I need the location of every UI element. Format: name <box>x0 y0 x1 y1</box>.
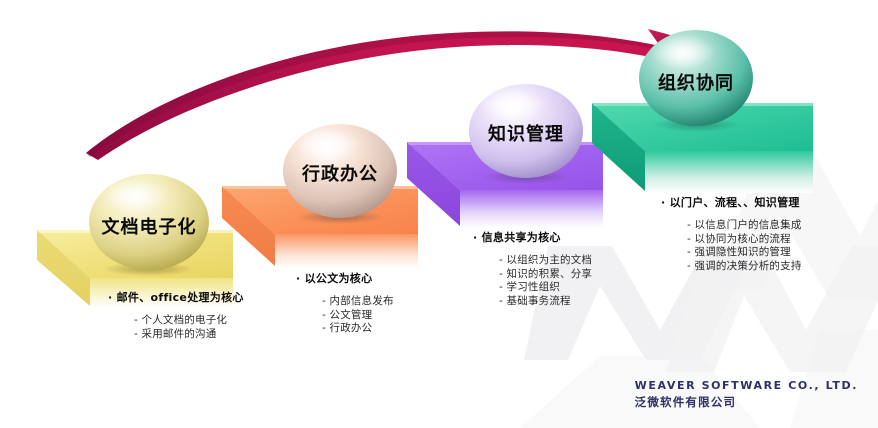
sphere-label-3: 知识管理 <box>463 120 589 146</box>
sphere-step-2: 行政办公 <box>277 122 403 224</box>
step-sub-item: - 采用邮件的沟通 <box>134 328 244 342</box>
sphere-label-1: 文档电子化 <box>83 213 215 239</box>
company-branding: WEAVER SOFTWARE CO., LTD. 泛微软件有限公司 <box>635 378 858 410</box>
step-sub-item: - 强调隐性知识的管理 <box>687 246 802 260</box>
step-sub-item: - 基础事务流程 <box>499 295 592 309</box>
brand-name-en: WEAVER SOFTWARE CO., LTD. <box>635 378 858 393</box>
step-sub-item: - 以组织为主的文档 <box>499 254 592 268</box>
step-subs-1: - 个人文档的电子化 - 采用邮件的沟通 <box>108 314 244 341</box>
step-sub-item: - 个人文档的电子化 <box>134 314 244 328</box>
step-subs-3: - 以组织为主的文档 - 知识的积累、分享 - 学习性组织 - 基础事务流程 <box>473 254 592 308</box>
step-sub-item: - 学习性组织 <box>499 281 592 295</box>
step-head-3: · 信息共享为核心 <box>473 231 592 245</box>
step-sub-item: - 以信息门户的信息集成 <box>687 219 802 233</box>
step-head-2: · 以公文为核心 <box>296 272 394 286</box>
step-text-1: · 邮件、office处理为核心 - 个人文档的电子化 - 采用邮件的沟通 <box>108 291 244 341</box>
sphere-label-4: 组织协同 <box>633 69 759 95</box>
step-sub-item: - 内部信息发布 <box>322 295 394 309</box>
step-head-4: · 以门户、流程、、知识管理 <box>661 196 802 210</box>
sphere-step-4: 组织协同 <box>633 28 759 132</box>
step-sub-item: - 公文管理 <box>322 309 394 323</box>
sphere-step-1: 文档电子化 <box>83 172 215 276</box>
step-sub-item: - 行政办公 <box>322 322 394 336</box>
step-subs-4: - 以信息门户的信息集成 - 以协同为核心的流程 - 强调隐性知识的管理 - 强… <box>661 219 802 273</box>
step-sub-item: - 知识的积累、分享 <box>499 268 592 282</box>
step-sub-item: - 以协同为核心的流程 <box>687 233 802 247</box>
slide-canvas: 文档电子化 行政办公 <box>0 0 878 428</box>
step-head-1: · 邮件、office处理为核心 <box>108 291 244 305</box>
sphere-label-2: 行政办公 <box>277 160 403 186</box>
sphere-step-3: 知识管理 <box>463 82 589 184</box>
brand-name-cn: 泛微软件有限公司 <box>635 394 858 410</box>
step-text-2: · 以公文为核心 - 内部信息发布 - 公文管理 - 行政办公 <box>296 272 394 336</box>
step-text-3: · 信息共享为核心 - 以组织为主的文档 - 知识的积累、分享 - 学习性组织 … <box>473 231 592 308</box>
step-text-4: · 以门户、流程、、知识管理 - 以信息门户的信息集成 - 以协同为核心的流程 … <box>661 196 802 273</box>
step-sub-item: - 强调的决策分析的支持 <box>687 260 802 274</box>
step-subs-2: - 内部信息发布 - 公文管理 - 行政办公 <box>296 295 394 336</box>
